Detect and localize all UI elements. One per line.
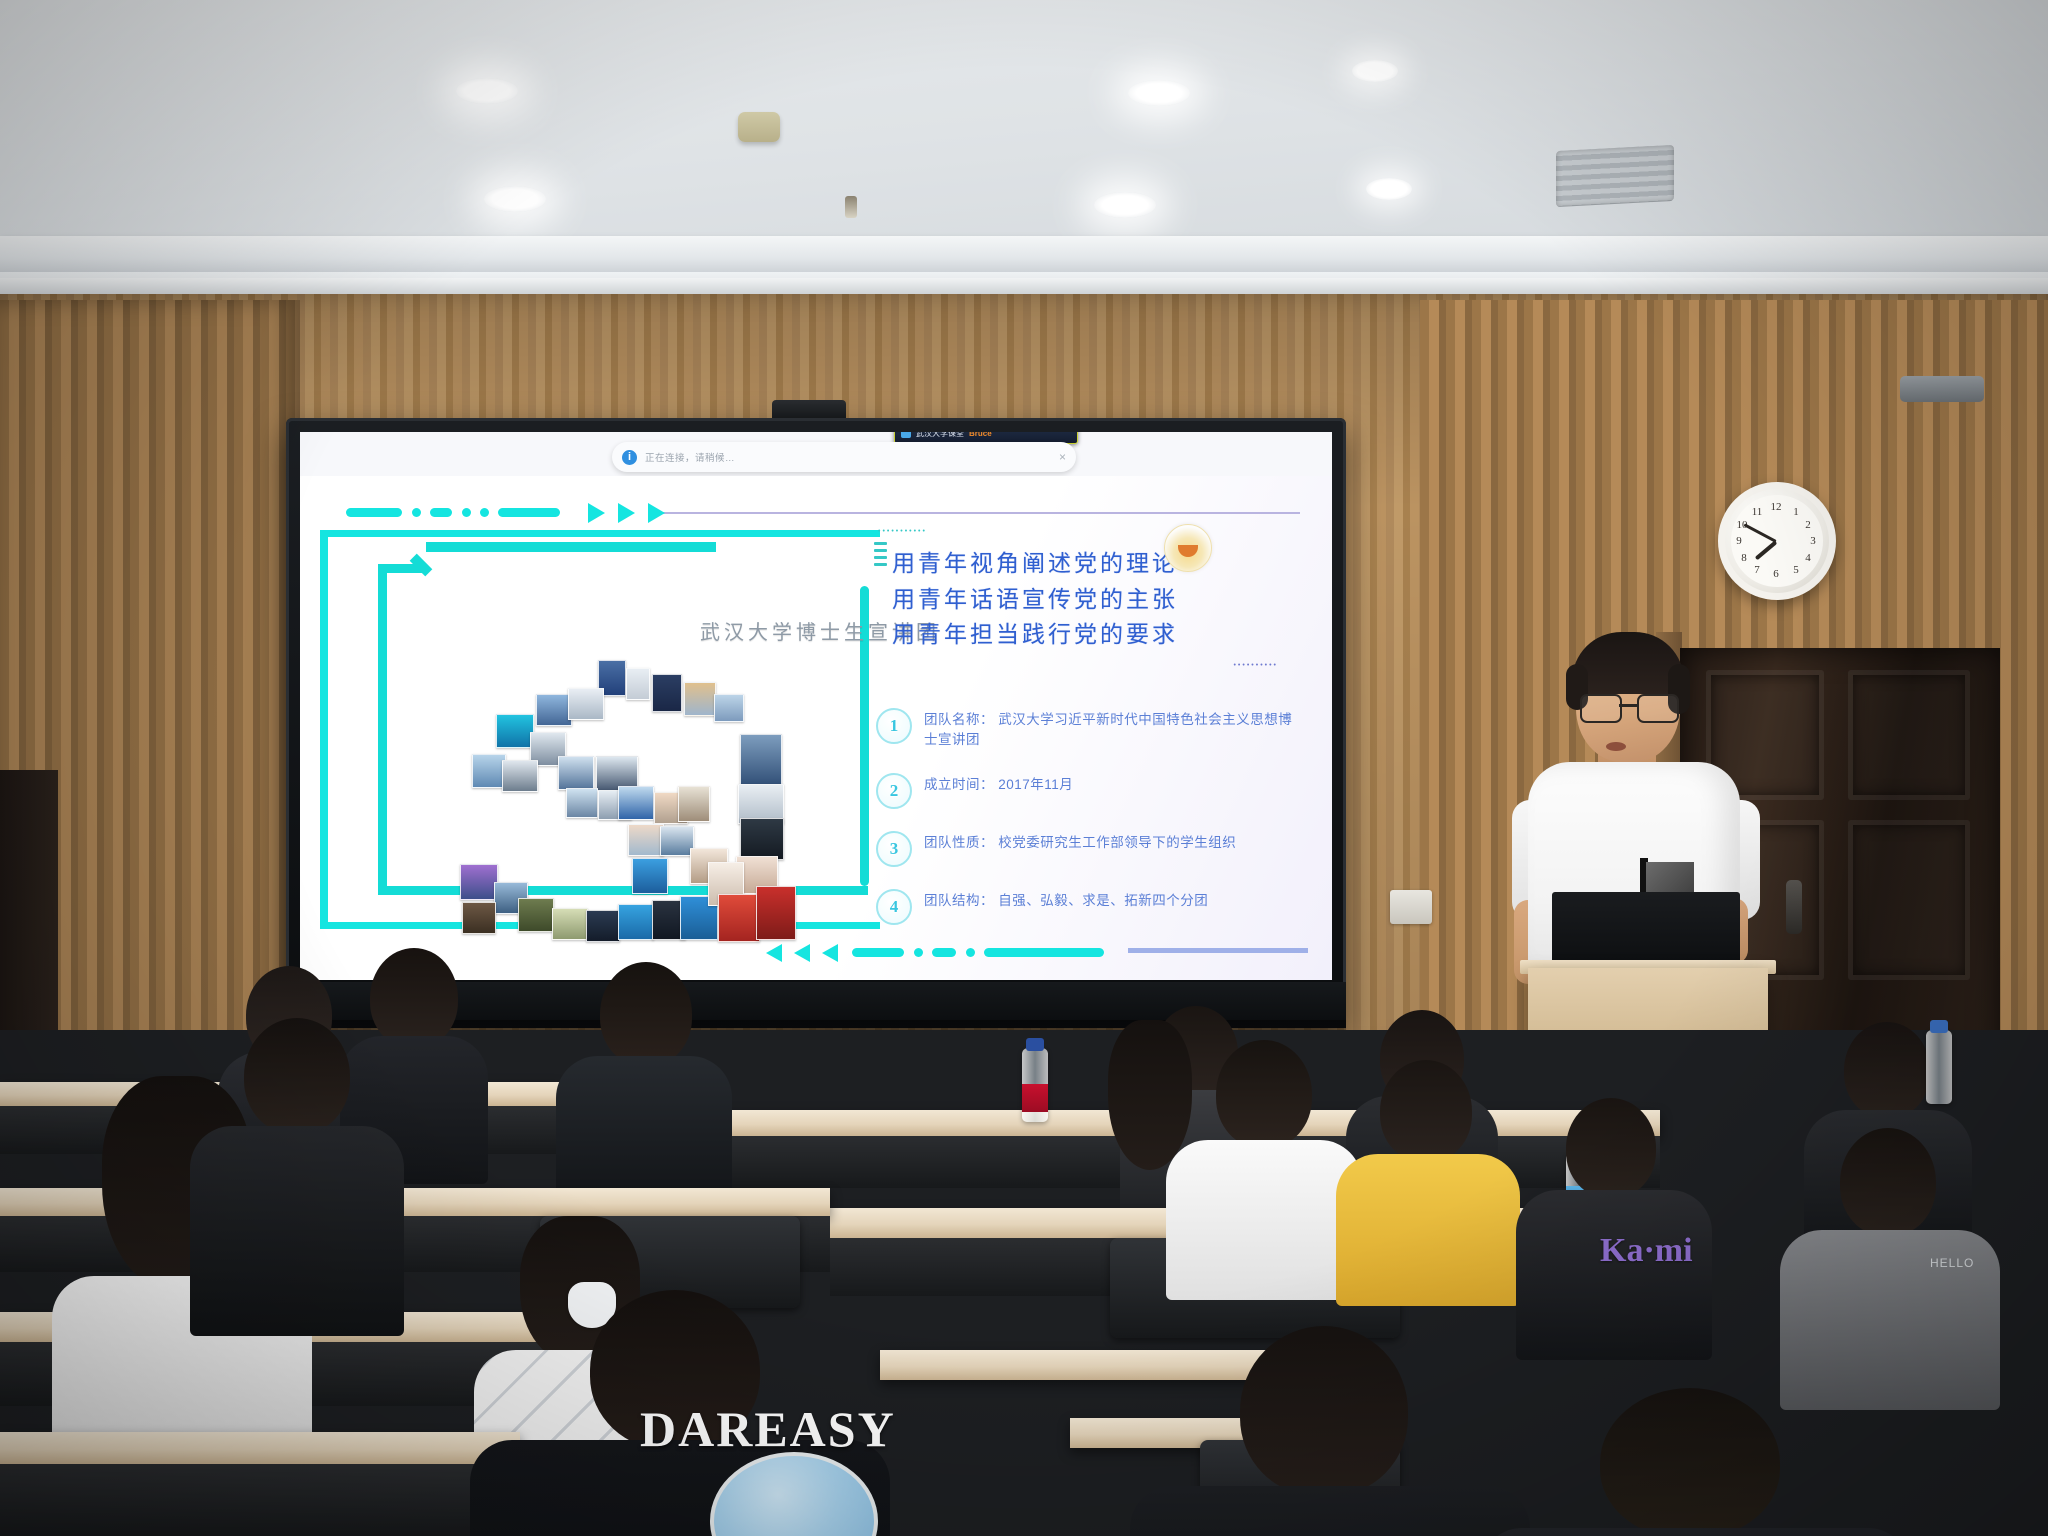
notification-toast[interactable]: i 正在连接，请稍候… × xyxy=(612,442,1076,472)
door-panel xyxy=(1848,670,1970,800)
slide-inner-bracket-top xyxy=(426,542,716,552)
collage-photo xyxy=(632,858,668,894)
torso xyxy=(190,1126,404,1336)
head xyxy=(1380,1060,1472,1162)
bullet-text: 成立时间： 2017年11月 xyxy=(924,773,1073,795)
bullet-text: 团队性质： 校党委研究生工作部领导下的学生组织 xyxy=(924,831,1236,853)
left-doorway xyxy=(0,770,58,1060)
ceiling-light xyxy=(1094,192,1156,218)
slide-headline: ••••••••••• 用青年视角阐述党的理论 用青年话语宣传党的主张 用青年担… xyxy=(892,546,1282,653)
clock-numeral: 9 xyxy=(1732,535,1746,547)
display-screen[interactable]: 武汉大学课堂 Bruce i 正在连接，请稍候… × xyxy=(300,432,1332,980)
deco-dash xyxy=(412,508,421,517)
slide-bullet-list: 1 团队名称： 武汉大学习近平新时代中国特色社会主义思想博士宣讲团 2 成立时间… xyxy=(876,708,1296,947)
air-vent xyxy=(1556,145,1674,207)
slide-frame-left xyxy=(320,530,328,928)
deco-dash xyxy=(346,508,402,517)
head xyxy=(244,1018,350,1134)
torso xyxy=(1480,1528,1910,1536)
bottle-cap xyxy=(1930,1020,1948,1033)
collage-photo xyxy=(568,688,604,720)
clock-hour-hand xyxy=(1755,540,1777,560)
clock-numeral: 6 xyxy=(1769,568,1783,580)
headline-side-marks xyxy=(874,542,887,570)
wall-trim xyxy=(0,278,2048,294)
close-icon[interactable]: × xyxy=(1059,450,1066,464)
torso xyxy=(1336,1154,1520,1306)
ceiling-speaker xyxy=(1900,376,1984,402)
collage-photo xyxy=(652,674,682,712)
collage-photo xyxy=(626,668,650,700)
collage-photo xyxy=(472,754,506,788)
head xyxy=(1840,1128,1936,1236)
water-bottle xyxy=(1022,1048,1048,1122)
deco-dash xyxy=(498,508,560,517)
deco-dash xyxy=(984,948,1104,957)
presenter-glasses xyxy=(1580,694,1678,720)
wall-clock: 12 1 2 3 4 5 6 7 8 9 10 11 xyxy=(1718,482,1836,600)
photo-collage xyxy=(440,666,820,966)
clock-numeral: 5 xyxy=(1789,564,1803,576)
collage-photo xyxy=(586,910,620,942)
clock-numeral: 2 xyxy=(1801,519,1815,531)
bottle-cap xyxy=(1026,1038,1044,1051)
jacket-text-kamini: Ka·mi xyxy=(1600,1232,1693,1270)
play-triangle-icon xyxy=(648,503,665,523)
bottle-label xyxy=(1022,1084,1048,1112)
list-item: 2 成立时间： 2017年11月 xyxy=(876,773,1296,809)
collage-photo xyxy=(678,786,710,822)
slide-top-rule xyxy=(660,512,1300,514)
bullet-text: 团队名称： 武汉大学习近平新时代中国特色社会主义思想博士宣讲团 xyxy=(924,708,1296,751)
mini-toolbar-accent: Bruce xyxy=(969,432,992,438)
collage-photo xyxy=(552,908,588,940)
collage-photo xyxy=(502,760,538,792)
bullet-number: 3 xyxy=(876,831,912,867)
presenter-mouth xyxy=(1606,742,1626,751)
clock-numeral: 7 xyxy=(1750,564,1764,576)
party-emblem-icon xyxy=(1164,524,1212,572)
glasses-bridge xyxy=(1619,704,1637,707)
bullet-text: 团队结构： 自强、弘毅、求是、拓新四个分团 xyxy=(924,889,1208,911)
headline-line: 用青年话语宣传党的主张 xyxy=(892,582,1282,618)
collage-photo xyxy=(496,714,534,748)
collage-photo xyxy=(628,824,664,856)
collage-photo xyxy=(660,826,694,856)
list-item: 4 团队结构： 自强、弘毅、求是、拓新四个分团 xyxy=(876,889,1296,925)
smoke-detector-icon xyxy=(738,112,780,142)
lecture-hall-photo: 12 1 2 3 4 5 6 7 8 9 10 11 武汉大学课堂 xyxy=(0,0,2048,1536)
headline-top-dots: ••••••••••• xyxy=(878,528,927,535)
head xyxy=(1600,1388,1780,1536)
notification-text: 正在连接，请稍候… xyxy=(645,450,1051,464)
ceiling-soffit xyxy=(0,236,2048,276)
play-triangle-icon xyxy=(822,944,838,962)
torso xyxy=(1130,1486,1530,1536)
play-triangle-icon xyxy=(618,503,635,523)
ceiling-light xyxy=(1366,178,1412,200)
collage-photo xyxy=(740,818,784,860)
desk-row xyxy=(880,1350,1300,1380)
jacket-text-dareasy: DAREASY xyxy=(640,1400,896,1458)
water-bottle xyxy=(1926,1030,1952,1104)
bullet-number: 1 xyxy=(876,708,912,744)
glasses-lens-right xyxy=(1637,694,1679,723)
collage-photo xyxy=(756,886,796,940)
clock-numeral: 8 xyxy=(1737,552,1751,564)
clock-numeral: 3 xyxy=(1806,535,1820,547)
sprinkler-icon xyxy=(845,196,857,218)
clock-face: 12 1 2 3 4 5 6 7 8 9 10 11 xyxy=(1731,495,1823,587)
door-handle[interactable] xyxy=(1786,880,1802,934)
bullet-number: 4 xyxy=(876,889,912,925)
collage-photo xyxy=(684,682,716,716)
slide-frame-top xyxy=(320,530,880,537)
collage-photo xyxy=(740,734,782,790)
ceiling-light xyxy=(1352,60,1398,82)
ceiling-light xyxy=(484,186,546,212)
collage-photo xyxy=(518,898,554,932)
torso xyxy=(1166,1140,1362,1300)
deco-dash xyxy=(914,948,923,957)
collage-photo xyxy=(618,786,654,820)
info-icon: i xyxy=(622,450,637,465)
podium-laptop[interactable] xyxy=(1552,892,1740,966)
mini-toolbar-label: 武汉大学课堂 xyxy=(916,432,964,439)
collage-photo xyxy=(558,756,594,790)
head xyxy=(1844,1022,1930,1118)
ceiling-light xyxy=(1128,80,1190,106)
list-item: 1 团队名称： 武汉大学习近平新时代中国特色社会主义思想博士宣讲团 xyxy=(876,708,1296,751)
door-panel xyxy=(1848,820,1970,980)
deco-dash xyxy=(480,508,489,517)
clock-numeral: 4 xyxy=(1801,552,1815,564)
torso xyxy=(1516,1190,1712,1360)
deco-dash xyxy=(966,948,975,957)
glasses-lens-left xyxy=(1580,694,1622,723)
deco-dash xyxy=(852,948,904,957)
clock-numeral: 11 xyxy=(1750,506,1764,518)
collage-photo xyxy=(718,894,760,942)
collage-photo xyxy=(714,694,744,722)
head xyxy=(600,962,692,1066)
head xyxy=(1216,1040,1312,1148)
head xyxy=(370,948,458,1048)
clock-numeral: 12 xyxy=(1769,501,1783,513)
slide-inner-bracket-v xyxy=(378,564,387,894)
headline-bottom-dots: •••••••••• xyxy=(1233,662,1278,669)
shirt-text: HELLO xyxy=(1930,1256,1974,1270)
deco-dash xyxy=(462,508,471,517)
ceiling-light xyxy=(456,78,518,104)
presentation-slide: 武汉大学博士生宣讲团 xyxy=(300,476,1332,980)
list-item: 3 团队性质： 校党委研究生工作部领导下的学生组织 xyxy=(876,831,1296,867)
headline-line: 用青年担当践行党的要求 xyxy=(892,617,1282,653)
deco-dash xyxy=(430,508,452,517)
desk-front xyxy=(0,1464,520,1536)
play-triangle-icon xyxy=(588,503,605,523)
head xyxy=(1566,1098,1656,1198)
wall-socket xyxy=(1390,890,1432,924)
app-icon xyxy=(901,432,911,438)
bullet-number: 2 xyxy=(876,773,912,809)
desk-row xyxy=(0,1432,520,1464)
collage-photo xyxy=(460,864,498,900)
collage-photo xyxy=(566,788,598,818)
hair-long xyxy=(1108,1020,1192,1170)
head xyxy=(1240,1326,1408,1496)
collage-photo xyxy=(536,694,572,726)
slide-frame-right-accent xyxy=(1128,948,1308,953)
collage-photo xyxy=(462,902,496,934)
headline-line: 用青年视角阐述党的理论 xyxy=(892,546,1282,582)
clock-numeral: 1 xyxy=(1789,506,1803,518)
collage-photo xyxy=(618,904,654,940)
clock-minute-hand xyxy=(1744,523,1777,543)
deco-dash xyxy=(932,948,956,957)
